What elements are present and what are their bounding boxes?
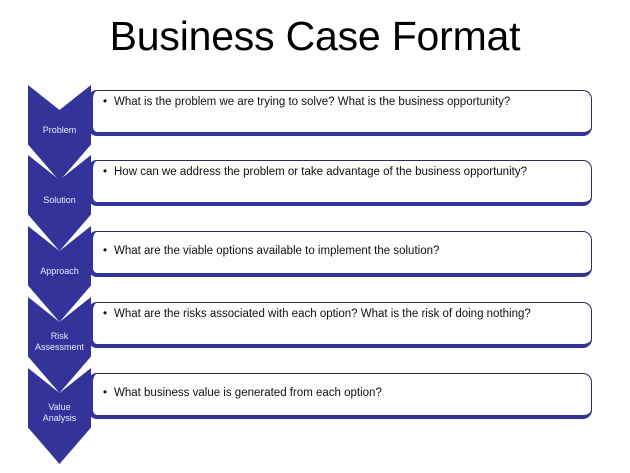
stage-label: Problem [28, 125, 91, 136]
stage-label-line1: Problem [43, 125, 77, 135]
bullet-text: What are the risks associated with each … [114, 307, 583, 322]
content-box-inner: • What business value is generated from … [103, 386, 583, 401]
bullet-dot-icon: • [103, 386, 114, 401]
stage-chevron-value-analysis[interactable]: Value Analysis [28, 368, 91, 464]
content-box-problem[interactable]: • What is the problem we are trying to s… [88, 90, 592, 136]
bullet-dot-icon: • [103, 244, 114, 259]
bullet-text: What is the problem we are trying to sol… [114, 95, 583, 110]
stage-label-line1: Risk [51, 331, 69, 341]
stage-label-line2: Assessment [28, 342, 91, 353]
bullet-dot-icon: • [103, 307, 114, 322]
bullet-item: • What business value is generated from … [103, 386, 583, 401]
stage-label-line1: Approach [40, 266, 79, 276]
content-box-risk-assessment[interactable]: • What are the risks associated with eac… [88, 302, 592, 348]
bullet-item: • What are the viable options available … [103, 244, 583, 259]
stage-label: Approach [28, 266, 91, 277]
stage-label: Risk Assessment [28, 331, 91, 352]
bullet-item: • What is the problem we are trying to s… [103, 95, 583, 110]
bullet-item: • How can we address the problem or take… [103, 165, 583, 180]
slide-canvas: Business Case Format Problem • What is t… [0, 0, 630, 473]
stage-label-line1: Solution [43, 195, 76, 205]
bullet-dot-icon: • [103, 165, 114, 180]
stage-label: Solution [28, 195, 91, 206]
content-box-inner: • What are the viable options available … [103, 244, 583, 259]
stage-label-line2: Analysis [28, 413, 91, 424]
stage-label-line1: Value [48, 402, 70, 412]
content-box-value-analysis[interactable]: • What business value is generated from … [88, 373, 592, 419]
stage-label: Value Analysis [28, 402, 91, 423]
content-box-inner: • What are the risks associated with eac… [103, 307, 583, 322]
content-box-solution[interactable]: • How can we address the problem or take… [88, 160, 592, 206]
bullet-text: What business value is generated from ea… [114, 386, 583, 401]
bullet-text: What are the viable options available to… [114, 244, 583, 259]
content-box-inner: • What is the problem we are trying to s… [103, 95, 583, 110]
bullet-text: How can we address the problem or take a… [114, 165, 583, 180]
content-box-approach[interactable]: • What are the viable options available … [88, 231, 592, 277]
bullet-item: • What are the risks associated with eac… [103, 307, 583, 322]
bullet-dot-icon: • [103, 95, 114, 110]
content-box-inner: • How can we address the problem or take… [103, 165, 583, 180]
page-title: Business Case Format [0, 12, 630, 60]
process-row: Value Analysis • What business value is … [0, 368, 630, 468]
